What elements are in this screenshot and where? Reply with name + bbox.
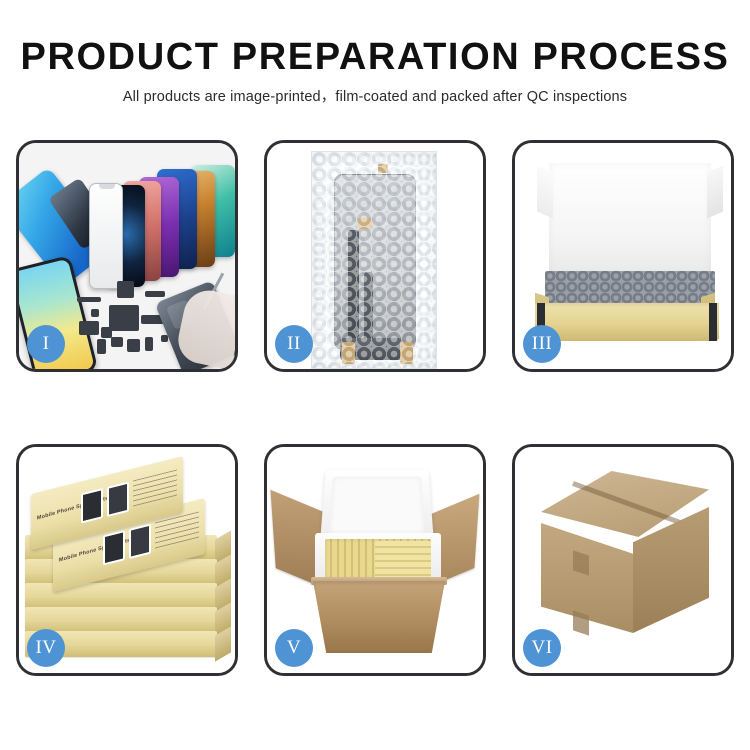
label-screen-swatch-4-icon — [107, 482, 129, 517]
foam-lid-icon — [549, 163, 711, 283]
label-spec-lines-2-icon — [133, 470, 177, 511]
foam-box-lid-icon — [320, 470, 434, 543]
part-logic-board-icon — [109, 305, 139, 331]
part-battery-icon — [97, 339, 106, 354]
process-step-1: I — [16, 140, 238, 372]
label-spec-lines-icon — [155, 512, 199, 553]
process-step-5: V — [264, 444, 486, 676]
phone-screen-fan-icon — [95, 163, 235, 289]
box-slab-4 — [25, 607, 217, 633]
yellow-box-front-icon — [535, 303, 719, 341]
phone-glass-panel-icon — [89, 183, 123, 289]
product-preparation-process-page: PRODUCT PREPARATION PROCESS All products… — [0, 0, 750, 750]
step-badge-6: VI — [523, 629, 561, 667]
label-screen-swatch-3-icon — [81, 488, 103, 523]
part-bar-icon — [77, 297, 101, 302]
wrapped-screen-icon — [334, 174, 416, 350]
part-block-three-icon — [145, 337, 153, 351]
part-gold-disc-icon — [117, 281, 134, 298]
step-badge-4: IV — [27, 629, 65, 667]
part-small-camera-icon — [101, 327, 112, 338]
carton-tape-lower-icon — [573, 610, 589, 635]
carton-front-icon — [313, 581, 445, 653]
process-step-2: II — [264, 140, 486, 372]
bubble-wrapped-contents-icon — [545, 271, 715, 307]
header: PRODUCT PREPARATION PROCESS All products… — [0, 0, 750, 105]
part-block-two-icon — [127, 339, 140, 352]
tape-piece-2-icon — [358, 218, 372, 229]
screen-flex-cable-a-icon — [348, 230, 359, 338]
process-step-4: Mobile Phone Spare Parts Mobile Phone Sp… — [16, 444, 238, 676]
page-title: PRODUCT PREPARATION PROCESS — [0, 38, 750, 76]
label-screen-swatch-2-icon — [129, 524, 151, 559]
part-flex-cable-icon — [145, 291, 165, 297]
process-step-3: III — [512, 140, 734, 372]
yellow-boxes-row-2-icon — [375, 541, 431, 579]
step-badge-1: I — [27, 325, 65, 363]
page-subtitle: All products are image-printed，film-coat… — [0, 90, 750, 105]
tape-piece-3-icon — [342, 342, 355, 364]
tape-piece-4-icon — [400, 342, 413, 364]
step-badge-3: III — [523, 325, 561, 363]
process-step-6: VI — [512, 444, 734, 676]
part-block-one-icon — [111, 337, 123, 347]
step-badge-5: V — [275, 629, 313, 667]
bubble-wrap-bag-icon — [311, 151, 437, 369]
part-camera-module-icon — [79, 321, 99, 335]
screen-flex-cable-b-icon — [364, 272, 373, 342]
process-step-grid: I II — [16, 140, 734, 680]
tape-piece-1-icon — [378, 164, 388, 173]
step-badge-2: II — [275, 325, 313, 363]
label-screen-swatch-1-icon — [103, 530, 125, 565]
part-screw-one-icon — [91, 309, 99, 317]
